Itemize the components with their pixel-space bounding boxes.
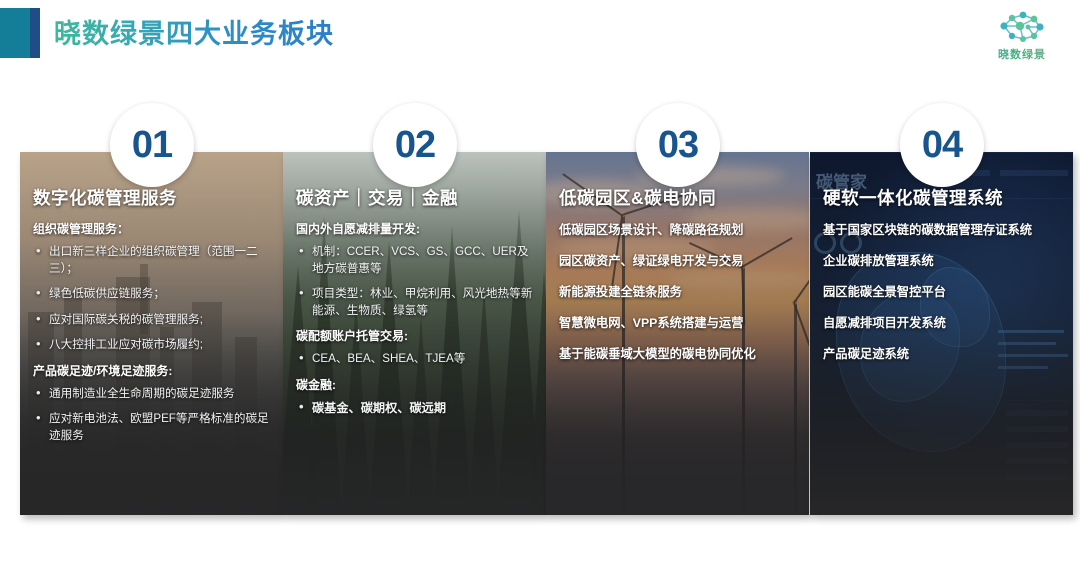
list-item: CEA、BEA、SHEA、TJEA等 bbox=[296, 351, 533, 368]
header-accent-teal bbox=[0, 8, 30, 58]
list-item: 绿色低碳供应链服务； bbox=[33, 286, 270, 303]
list-item: 应对新电池法、欧盟PEF等严格标准的碳足迹服务 bbox=[33, 411, 270, 444]
card-number-badge-01: 01 bbox=[110, 103, 194, 187]
list-item: 出口新三样企业的组织碳管理（范围一二三）； bbox=[33, 244, 270, 277]
list-item: 碳基金、碳期权、碳远期 bbox=[296, 400, 533, 417]
card-content-02: 碳资产｜交易｜金融 国内外自愿减排量开发: 机制：CCER、VCS、GS、GCC… bbox=[283, 152, 546, 425]
list-item: 新能源投建全链条服务 bbox=[559, 283, 796, 301]
section-heading: 国内外自愿减排量开发: bbox=[296, 221, 533, 238]
logo-wordmark: 晓数绿景 bbox=[976, 48, 1068, 62]
list-item: 应对国际碳关税的碳管理服务; bbox=[33, 312, 270, 329]
list-item: 产品碳足迹系统 bbox=[823, 345, 1060, 363]
card-number-badge-02: 02 bbox=[373, 103, 457, 187]
brand-logo: 晓数绿景 bbox=[976, 6, 1068, 68]
list-item: 通用制造业全生命周期的碳足迹服务 bbox=[33, 386, 270, 403]
list-item: 智慧微电网、VPP系统搭建与运营 bbox=[559, 314, 796, 332]
page-title: 晓数绿景四大业务板块 bbox=[54, 17, 334, 51]
card-content-01: 数字化碳管理服务 组织碳管理服务： 出口新三样企业的组织碳管理（范围一二三）； … bbox=[20, 152, 283, 453]
list-item: 园区碳资产、绿证绿电开发与交易 bbox=[559, 252, 796, 270]
list-item: 园区能碳全景智控平台 bbox=[823, 283, 1060, 301]
list-item: 基于国家区块链的碳数据管理存证系统 bbox=[823, 221, 1060, 239]
business-card-04[interactable]: 碳管家 硬软一体化碳管理系统 基于国家区块链的碳数据管理存证系统 企业碳排放管理… bbox=[810, 152, 1073, 515]
list-item: 项目类型：林业、甲烷利用、风光地热等新能源、生物质、绿氢等 bbox=[296, 286, 533, 319]
header-accent-navy bbox=[30, 8, 40, 58]
list-item: 自愿减排项目开发系统 bbox=[823, 314, 1060, 332]
section-heading: 碳配额账户托管交易: bbox=[296, 328, 533, 345]
card-number-badge-04: 04 bbox=[900, 103, 984, 187]
card-number-badge-03: 03 bbox=[636, 103, 720, 187]
card-title: 数字化碳管理服务 bbox=[33, 186, 270, 210]
card-title: 碳资产｜交易｜金融 bbox=[296, 186, 533, 210]
list-item: 基于能碳垂域大模型的碳电协同优化 bbox=[559, 345, 796, 363]
list-item: 低碳园区场景设计、降碳路径规划 bbox=[559, 221, 796, 239]
list-item: 机制：CCER、VCS、GS、GCC、UER及地方碳普惠等 bbox=[296, 244, 533, 277]
section-heading: 组织碳管理服务： bbox=[33, 221, 270, 238]
business-card-01[interactable]: 数字化碳管理服务 组织碳管理服务： 出口新三样企业的组织碳管理（范围一二三）； … bbox=[20, 152, 283, 515]
network-brain-icon bbox=[990, 6, 1054, 48]
section-heading: 碳金融: bbox=[296, 377, 533, 394]
business-card-03[interactable]: 低碳园区&碳电协同 低碳园区场景设计、降碳路径规划 园区碳资产、绿证绿电开发与交… bbox=[546, 152, 809, 515]
list-item: 企业碳排放管理系统 bbox=[823, 252, 1060, 270]
card-title: 低碳园区&碳电协同 bbox=[559, 186, 796, 210]
page-header: 晓数绿景四大业务板块 bbox=[0, 0, 1080, 66]
card-title: 硬软一体化碳管理系统 bbox=[823, 186, 1060, 210]
business-card-02[interactable]: 碳资产｜交易｜金融 国内外自愿减排量开发: 机制：CCER、VCS、GS、GCC… bbox=[283, 152, 546, 515]
list-item: 八大控排工业应对碳市场履约; bbox=[33, 337, 270, 354]
section-heading: 产品碳足迹/环境足迹服务: bbox=[33, 363, 270, 380]
